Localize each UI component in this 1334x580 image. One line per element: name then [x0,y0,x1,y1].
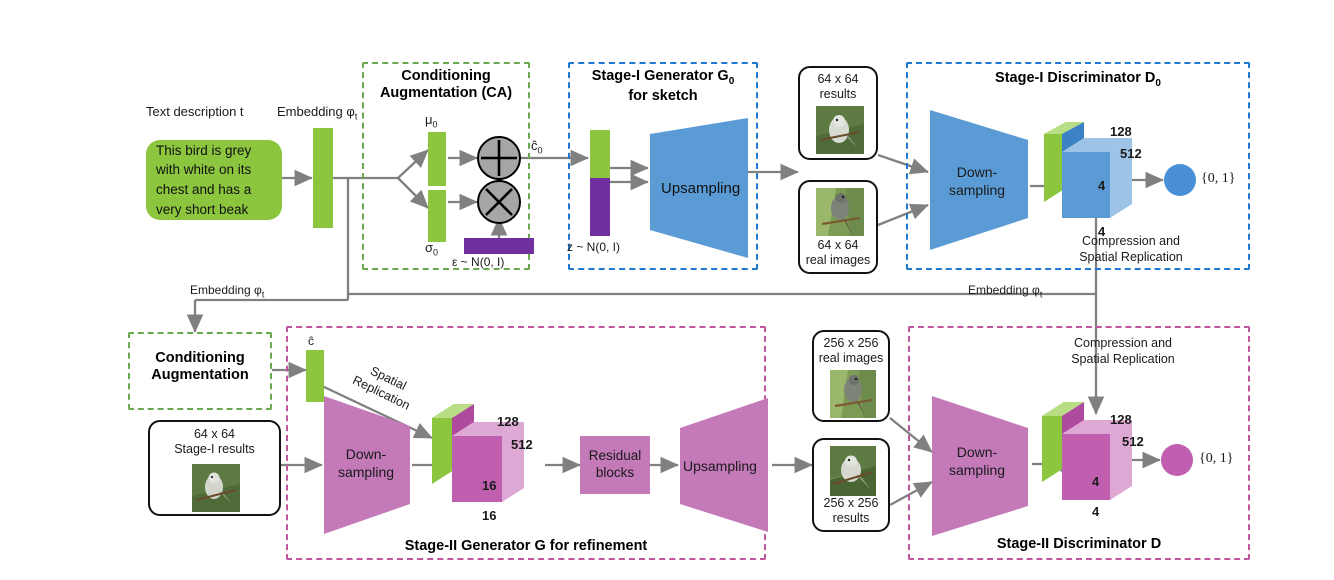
stage2-cube-depth-label: 128 [497,414,519,430]
z-noise-bar [590,178,610,236]
embedding-vector-bar [313,128,333,228]
stage2-real-bird-photo [830,370,876,418]
text-description-box: This bird is grey with white on its ches… [146,140,282,220]
stage2-output-node [1161,444,1193,476]
stage1-discriminator-title: Stage-I Discriminator D0 [906,70,1250,90]
epsilon-vector-bar [464,238,534,254]
stage2-disc-feature-cube [1042,402,1154,510]
mu-label: μ0 [425,112,438,131]
stage1-output-label: {0, 1} [1201,170,1235,188]
z-noise-label: z ~ N(0, I) [567,240,620,255]
stage2-cube-bottom-label: 16 [482,508,496,524]
stage2-disc-downsampling-label: Down- sampling [938,444,1016,479]
stage2-downsampling-label: Down- sampling [330,446,402,481]
multiply-operator-icon [477,180,521,224]
stage1-result-bird-photo [816,106,864,154]
routing-embedding-right-label: Embedding φt [968,283,1042,301]
mu-vector-bar [428,132,446,186]
stage1-compression-label: Compression and Spatial Replication [1036,234,1226,265]
stage2-result-bird-photo [830,446,876,496]
stage1-downsampling-label: Down- sampling [938,164,1016,199]
stage2-results-image-box: 256 x 256 results [812,438,890,532]
sigma-vector-bar [428,190,446,242]
stage1-cube-depth-label: 128 [1110,124,1132,140]
stage1-feature-cube [1044,122,1154,228]
stage1-cube-side-label: 4 [1098,178,1105,194]
stage2-generator-title: Stage-II Generator G for refinement [286,538,766,555]
text-description-label: Text description t [146,104,244,120]
stage1-cube-channels-label: 512 [1120,146,1142,162]
stage1-real-image-box: 64 x 64 real images [798,180,878,274]
stage2-input-image-box: 64 x 64 Stage-I results [148,420,281,516]
stage2-output-label: {0, 1} [1199,450,1233,468]
stage1-generator-title: Stage-I Generator G0 for sketch [568,68,758,105]
stage2-discriminator-title: Stage-II Discriminator D [908,536,1250,553]
stage2-input-bird-photo [192,464,240,512]
residual-blocks-label: Residual blocks [580,448,650,482]
c-hat-zero-label: ĉ0 [531,138,543,157]
stage2-upsampling-label: Upsampling [683,458,757,476]
stage2-real-image-box: 256 x 256 real images [812,330,890,422]
stage2-compression-label: Compression and Spatial Replication [1028,336,1218,367]
stage2-disc-cube-side-label: 4 [1092,474,1099,490]
stage1-output-node [1164,164,1196,196]
sigma-label: σ0 [425,240,438,259]
add-operator-icon [477,136,521,180]
stage2-ca-title: Conditioning Augmentation [128,350,272,385]
diagram-canvas: Text description t This bird is grey wit… [0,0,1334,580]
stage2-c-hat-label: ĉ [308,334,314,349]
stage2-disc-cube-channels-label: 512 [1122,434,1144,450]
c-hat-zero-bar [590,130,610,178]
stage1-upsampling-label: Upsampling [661,180,740,199]
stage1-real-bird-photo [816,188,864,236]
stage2-c-hat-bar [306,350,324,402]
ca-title: Conditioning Augmentation (CA) [362,68,530,103]
epsilon-label: ε ~ N(0, I) [452,255,504,270]
stage2-disc-cube-bottom-label: 4 [1092,504,1099,520]
stage2-feature-cube [432,404,548,512]
routing-embedding-left-label: Embedding φt [190,283,264,301]
stage2-cube-side-label: 16 [482,478,496,494]
stage2-cube-channels-label: 512 [511,437,533,453]
stage1-results-image-box: 64 x 64 results [798,66,878,160]
embedding-phi-label: Embedding φt [277,104,357,123]
stage2-disc-cube-depth-label: 128 [1110,412,1132,428]
